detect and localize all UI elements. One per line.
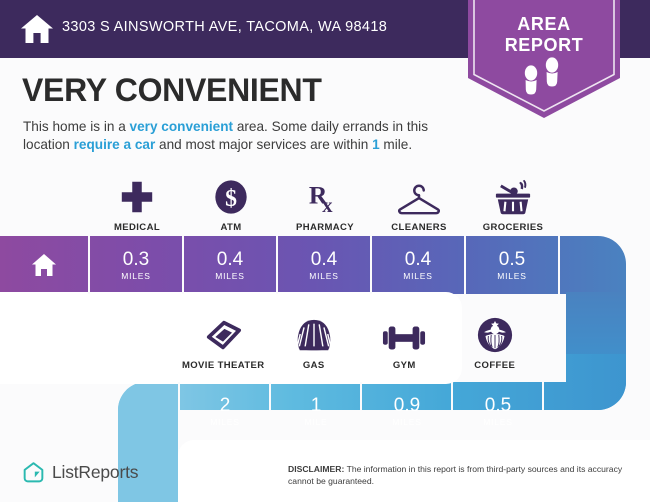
amenity-label: PHARMACY bbox=[296, 222, 354, 233]
distance-unit: MILES bbox=[210, 417, 240, 427]
amenity-label: GROCERIES bbox=[483, 222, 544, 233]
distance-value: 0.9 bbox=[394, 396, 420, 416]
ribbon-value-coffee: 0.5 MILES bbox=[453, 382, 543, 440]
distance-value: 0.4 bbox=[217, 250, 243, 270]
home-icon bbox=[31, 253, 57, 277]
ribbon-value-gym: 0.9 MILES bbox=[362, 382, 452, 440]
amenity-cleaners: CLEANERS bbox=[372, 176, 466, 233]
amenity-label: MOVIE THEATER bbox=[182, 360, 265, 371]
segment-divider bbox=[464, 236, 466, 294]
area-report-badge: AREA REPORT bbox=[468, 0, 620, 120]
amenity-label: CLEANERS bbox=[391, 222, 446, 233]
amenity-pharmacy: R x PHARMACY bbox=[278, 176, 372, 233]
page-title: VERY CONVENIENT bbox=[22, 72, 322, 109]
desc-part-4: mile. bbox=[380, 137, 412, 152]
listreports-house-icon bbox=[22, 461, 45, 484]
ribbon-value-movie-theater: 2 MILES bbox=[180, 382, 270, 440]
disclaimer-label: DISCLAIMER: bbox=[288, 464, 344, 474]
ticket-icon bbox=[203, 314, 243, 354]
listreports-name: ListReports bbox=[52, 462, 138, 483]
svg-text:x: x bbox=[322, 193, 333, 216]
distance-unit: MILES bbox=[483, 417, 513, 427]
segment-divider bbox=[182, 236, 184, 294]
desc-part-3: and most major services are within bbox=[155, 137, 372, 152]
area-report-infographic: 3303 S AINSWORTH AVE, TACOMA, WA 98418 A… bbox=[0, 0, 650, 502]
distance-value: 2 bbox=[220, 396, 231, 416]
ribbon-value-medical: 0.3 MILES bbox=[90, 236, 182, 294]
starbucks-icon bbox=[476, 314, 514, 354]
description-text: This home is in a very convenient area. … bbox=[23, 118, 458, 153]
segment-divider bbox=[370, 236, 372, 294]
shell-icon bbox=[295, 314, 333, 354]
amenity-label: ATM bbox=[220, 222, 241, 233]
distance-unit: MILES bbox=[403, 271, 433, 281]
amenity-label: GYM bbox=[393, 360, 416, 371]
hanger-icon bbox=[397, 176, 441, 216]
segment-divider bbox=[542, 382, 544, 440]
ribbon-value-groceries: 0.5 MILES bbox=[466, 236, 558, 294]
desc-part-1: This home is in a bbox=[23, 119, 130, 134]
desc-highlight-2: require a car bbox=[74, 137, 156, 152]
ribbon-value-cleaners: 0.4 MILES bbox=[372, 236, 464, 294]
distance-value: 0.4 bbox=[311, 250, 337, 270]
distance-unit: MILE bbox=[304, 417, 327, 427]
dollar-circle-icon: $ bbox=[212, 176, 250, 216]
amenity-icon-row-bottom: MOVIE THEATER GA bbox=[178, 314, 540, 371]
segment-divider bbox=[276, 236, 278, 294]
ribbon-value-gas: 1 MILE bbox=[271, 382, 361, 440]
amenity-gas: GAS bbox=[269, 314, 360, 371]
medical-cross-icon bbox=[118, 176, 156, 216]
dumbbell-icon bbox=[382, 314, 426, 354]
amenity-coffee: COFFEE bbox=[450, 314, 541, 371]
segment-divider bbox=[558, 236, 560, 294]
svg-text:$: $ bbox=[225, 186, 237, 212]
amenity-label: COFFEE bbox=[474, 360, 515, 371]
segment-divider bbox=[88, 236, 90, 294]
distance-value: 0.3 bbox=[123, 250, 149, 270]
rx-icon: R x bbox=[306, 176, 344, 216]
disclaimer: DISCLAIMER: The information in this repo… bbox=[288, 464, 638, 487]
distance-unit: MILES bbox=[497, 271, 527, 281]
segment-divider bbox=[360, 382, 362, 440]
amenity-gym: GYM bbox=[359, 314, 450, 371]
desc-highlight-1: very convenient bbox=[130, 119, 234, 134]
distance-value: 0.4 bbox=[405, 250, 431, 270]
segment-divider bbox=[178, 382, 180, 440]
listreports-logo: ListReports bbox=[22, 461, 138, 484]
amenity-medical: MEDICAL bbox=[90, 176, 184, 233]
distance-unit: MILES bbox=[215, 271, 245, 281]
amenity-icon-row-top: MEDICAL $ ATM R x PHARMACY bbox=[90, 176, 560, 233]
distance-unit: MILES bbox=[309, 271, 339, 281]
grocery-basket-icon bbox=[493, 176, 533, 216]
amenity-label: MEDICAL bbox=[114, 222, 160, 233]
amenity-label: GAS bbox=[303, 360, 325, 371]
ribbon-home-segment bbox=[0, 236, 88, 294]
amenity-movie-theater: MOVIE THEATER bbox=[178, 314, 269, 371]
home-icon bbox=[20, 12, 54, 46]
property-address: 3303 S AINSWORTH AVE, TACOMA, WA 98418 bbox=[62, 19, 387, 35]
distance-value: 1 bbox=[311, 396, 322, 416]
ribbon-value-pharmacy: 0.4 MILES bbox=[278, 236, 370, 294]
distance-unit: MILES bbox=[121, 271, 151, 281]
distance-unit: MILES bbox=[392, 417, 422, 427]
segment-divider bbox=[269, 382, 271, 440]
amenity-groceries: GROCERIES bbox=[466, 176, 560, 233]
desc-highlight-3: 1 bbox=[372, 137, 380, 152]
distance-value: 0.5 bbox=[485, 396, 511, 416]
distance-value: 0.5 bbox=[499, 250, 525, 270]
ribbon-value-atm: 0.4 MILES bbox=[184, 236, 276, 294]
segment-divider bbox=[451, 382, 453, 440]
amenity-atm: $ ATM bbox=[184, 176, 278, 233]
